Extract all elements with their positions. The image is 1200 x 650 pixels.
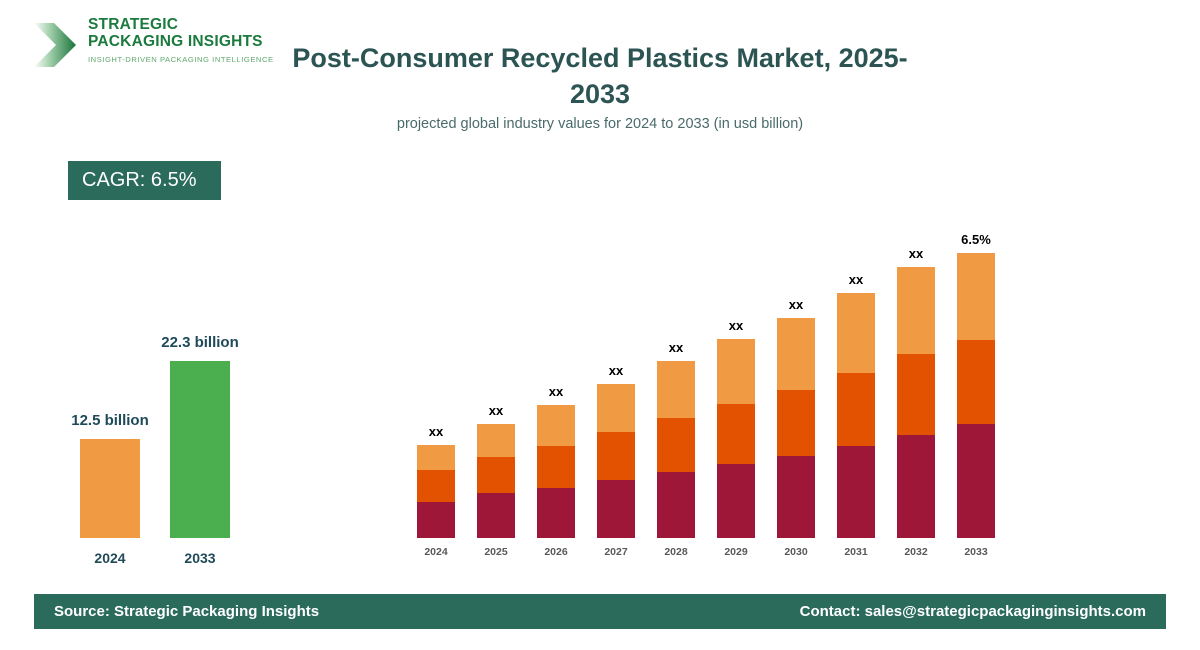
footer-contact[interactable]: Contact: sales@strategicpackaginginsight… [800,603,1146,620]
stacked-bar-segment [837,373,875,446]
stacked-bar-segment [477,424,515,457]
stacked-bar-segment [477,493,515,538]
stacked-bar-segment [597,432,635,480]
stacked-bar-top-label: xx [521,384,591,399]
stacked-bar [537,405,575,538]
brand-logo: STRATEGIC PACKAGING INSIGHTS INSIGHT-DRI… [32,16,262,78]
stacked-bar [777,318,815,538]
stacked-bar-segment [717,404,755,464]
stacked-bar [477,424,515,538]
comparison-bar-group: 22.3 billion [170,361,230,538]
comparison-bar [170,361,230,538]
stacked-bar-top-label: xx [821,272,891,287]
stacked-bar-x-label: 2031 [837,546,875,558]
stacked-bar-x-label: 2028 [657,546,695,558]
comparison-x-label: 2024 [80,550,140,566]
footer-bar: Source: Strategic Packaging Insights Con… [34,594,1166,629]
stacked-bar-segment [957,424,995,538]
stacked-bar-segment [897,267,935,354]
stacked-bar-segment [717,339,755,404]
market-size-comparison-chart: 12.5 billion202422.3 billion2033 [50,300,280,580]
stacked-bar-segment [717,464,755,538]
stacked-bar-top-label: xx [641,340,711,355]
stacked-bar-segment [417,502,455,538]
stacked-bar-top-label: xx [581,363,651,378]
stacked-bar-segment [957,253,995,340]
comparison-bar-group: 12.5 billion [80,439,140,538]
stacked-bar-segment [777,318,815,390]
stacked-bar-group: xx2025 [477,217,515,560]
stacked-bar-segment [837,446,875,538]
stacked-bar-segment [537,488,575,538]
page-title: Post-Consumer Recycled Plastics Market, … [270,40,930,112]
stacked-bar-top-label: xx [881,246,951,261]
stacked-bar-segment [657,472,695,538]
stacked-bar-segment [897,435,935,538]
cagr-badge: CAGR: 6.5% [68,161,221,200]
stacked-bar-group: xx2024 [417,217,455,560]
stacked-bar-segment [417,470,455,502]
stacked-bar [417,445,455,538]
stacked-bar-x-label: 2029 [717,546,755,558]
stacked-bar-x-label: 2032 [897,546,935,558]
comparison-x-label: 2033 [170,550,230,566]
stacked-bar [957,253,995,538]
stacked-bar-segment [777,456,815,538]
stacked-bar-x-label: 2025 [477,546,515,558]
stacked-bar-x-label: 2024 [417,546,455,558]
stacked-bar-segment [477,457,515,493]
stacked-bar-group: xx2026 [537,217,575,560]
stacked-bar-segment [777,390,815,456]
stacked-bar-top-label: xx [401,424,471,439]
stacked-bar-segment [657,361,695,418]
stacked-bar-group: xx2031 [837,217,875,560]
stacked-bar-group: xx2029 [717,217,755,560]
stacked-bar-segment [897,354,935,435]
stacked-bar-top-label: xx [461,403,531,418]
stacked-bar-group: xx2028 [657,217,695,560]
stacked-bar-segment [597,384,635,432]
stacked-bar-group: xx2030 [777,217,815,560]
stacked-bar-x-label: 2033 [957,546,995,558]
stacked-bar-group: 6.5%2033 [957,217,995,560]
brand-logo-text: STRATEGIC PACKAGING INSIGHTS INSIGHT-DRI… [88,16,274,64]
comparison-value-label: 22.3 billion [125,334,275,351]
comparison-bar [80,439,140,538]
stacked-bar-segment [537,405,575,446]
chevron-right-icon [32,20,78,70]
comparison-value-label: 12.5 billion [35,412,185,429]
stacked-bar-segment [837,293,875,373]
stacked-bar-group: xx2032 [897,217,935,560]
stacked-bar-segment [417,445,455,470]
cagr-badge-label: CAGR: 6.5% [82,169,196,192]
stacked-bar-segment [657,418,695,472]
stacked-bar [717,339,755,538]
footer-source: Source: Strategic Packaging Insights [54,603,319,620]
logo-line-2: PACKAGING INSIGHTS [88,33,274,50]
stacked-bar [897,267,935,538]
stacked-bar-segment [957,340,995,424]
stacked-bar-segment [597,480,635,538]
stacked-bar-top-label: 6.5% [941,232,1011,247]
logo-tagline: INSIGHT-DRIVEN PACKAGING INTELLIGENCE [88,55,274,64]
stacked-bar-x-label: 2027 [597,546,635,558]
stacked-bar-top-label: xx [761,297,831,312]
yearly-stacked-forecast-chart: xx2024xx2025xx2026xx2027xx2028xx2029xx20… [410,195,1010,560]
stacked-bar-group: xx2027 [597,217,635,560]
stacked-bar [657,361,695,538]
stacked-bar [597,384,635,538]
stacked-bar [837,293,875,538]
logo-line-1: STRATEGIC [88,16,274,33]
stacked-bar-x-label: 2030 [777,546,815,558]
stacked-bar-x-label: 2026 [537,546,575,558]
stacked-bar-top-label: xx [701,318,771,333]
stacked-bar-segment [537,446,575,488]
page-subtitle: projected global industry values for 202… [270,116,930,132]
